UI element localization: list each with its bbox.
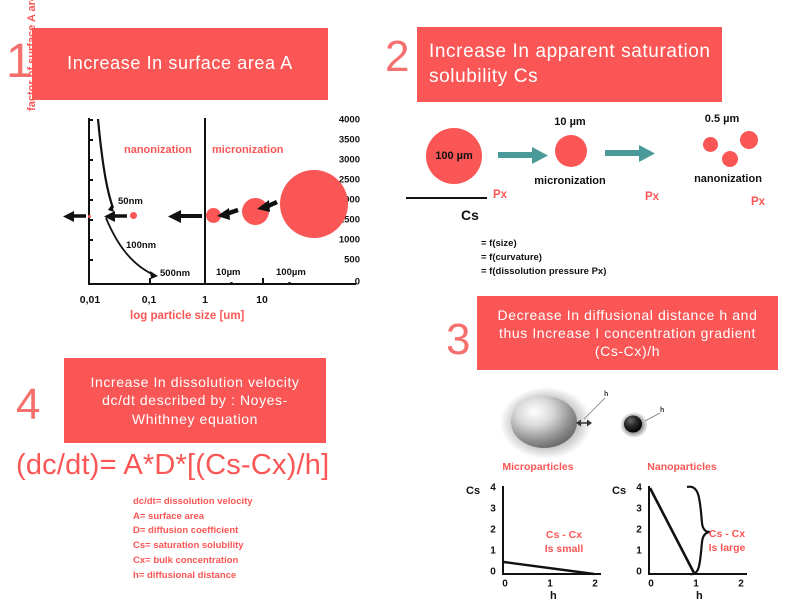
mini-x-tick: 1: [547, 579, 553, 590]
chart-y-axis-label: factor of surface A area Increase: [26, 0, 38, 120]
nanoparticles-note-line2: Is large: [709, 542, 746, 556]
px-label-3: Px: [751, 196, 765, 208]
noyes-whitney-equation: (dc/dt)= A*D*[(Cs-Cx)/h]: [16, 449, 329, 482]
legend-item: A= surface area: [133, 510, 253, 525]
h-label-nanoparticle: h: [660, 407, 664, 414]
stage-3-particle-b: [740, 131, 758, 149]
microparticles-note-line2: Is small: [545, 543, 584, 557]
mini-x-axis-label: h: [696, 590, 703, 602]
arrow-nanonization-icon: [603, 141, 657, 167]
microparticles-note-line1: Cs - Cx: [545, 529, 584, 543]
stage-3-particle-c: [722, 151, 738, 167]
mini-x-tick: 1: [693, 579, 699, 590]
legend-item: Cx= bulk concentration: [133, 554, 253, 569]
h-label-microparticle: h: [604, 391, 608, 398]
stage-2-particle-10um: [555, 135, 587, 167]
legend-item: D= diffusion coefficient: [133, 524, 253, 539]
legend-item: Cs= saturation solubility: [133, 539, 253, 554]
microparticles-note: Cs - Cx Is small: [545, 529, 584, 556]
particle-label-10um: 10µm: [216, 267, 241, 278]
stage-2-process-label: micronization: [534, 175, 606, 187]
mini-x-tick: 2: [738, 579, 744, 590]
diffusion-layer-illustration: [498, 385, 698, 460]
panel-2-number: 2: [385, 35, 409, 79]
px-scale-bar: [406, 197, 487, 199]
nanoparticles-note: Cs - Cx Is large: [709, 528, 746, 555]
legend-item: dc/dt= dissolution velocity: [133, 495, 253, 510]
cs-function-3: = f(dissolution pressure Px): [481, 266, 606, 277]
px-label-2: Px: [645, 191, 659, 203]
stage-3-size-label: 0.5 µm: [705, 113, 739, 125]
surface-area-chart: factor of surface A area Increase 4000 3…: [30, 112, 360, 327]
panel-4-number: 4: [16, 383, 40, 427]
arrow-micronization-icon: [496, 143, 550, 169]
mini-x-axis-label: h: [550, 590, 557, 602]
equation-legend: dc/dt= dissolution velocity A= surface a…: [133, 495, 253, 583]
particle-label-50nm: 50nm: [118, 196, 143, 207]
cs-function-1: = f(size): [481, 238, 517, 249]
stage-1-size-label: 100 µm: [435, 150, 473, 162]
mini-x-tick: 0: [502, 579, 508, 590]
particle-label-100nm: 100nm: [126, 240, 156, 251]
particle-label-100um: 100µm: [276, 267, 306, 278]
panel-3-number: 3: [446, 318, 470, 362]
panel-1-title: Increase In surface area A: [32, 28, 328, 100]
baseline-dot-10um: [230, 282, 233, 285]
microparticles-chart-title: Microparticles: [502, 461, 573, 473]
mini-x-tick: 0: [648, 579, 654, 590]
baseline-dot-100um: [288, 282, 291, 285]
stage-3-particle-a: [703, 137, 718, 152]
cs-label: Cs: [461, 207, 479, 223]
size-reduction-arrows: [30, 112, 360, 327]
particle-label-500nm: 500nm: [160, 268, 190, 279]
px-label-1: Px: [493, 189, 507, 201]
legend-item: h= diffusional distance: [133, 569, 253, 584]
panel-2-title: Increase In apparent saturation solubili…: [417, 27, 722, 102]
nanoparticles-note-line1: Cs - Cx: [709, 528, 746, 542]
microparticles-chart: Cs 4 3 2 1 0 0 1 2 h: [466, 478, 616, 603]
panel-3-title: Decrease In diffusional distance h and t…: [477, 296, 778, 370]
cs-function-2: = f(curvature): [481, 252, 542, 263]
mini-x-tick: 2: [592, 579, 598, 590]
stage-2-size-label: 10 µm: [554, 116, 585, 128]
stage-3-process-label: nanonization: [694, 173, 762, 185]
panel-4-title: Increase In dissolution velocity dc/dt d…: [64, 358, 326, 443]
nanoparticles-chart-title: Nanoparticles: [647, 461, 716, 473]
